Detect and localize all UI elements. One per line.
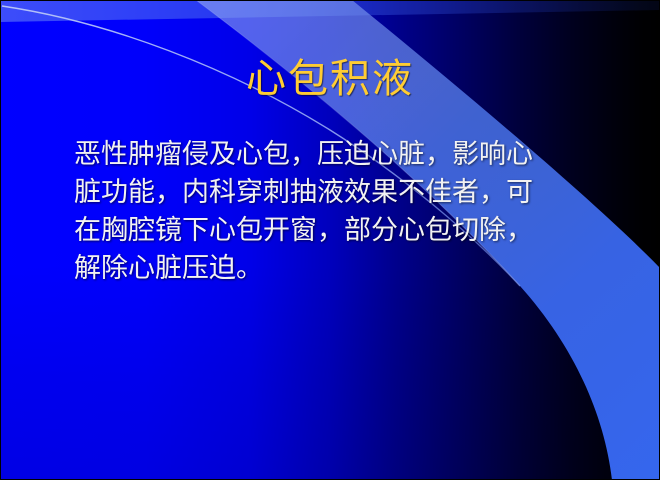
body-line-2: 脏功能，内科穿刺抽液效果不佳者，可 [74, 174, 594, 212]
body-line-4: 解除心脏压迫。 [74, 250, 594, 288]
body-line-1: 恶性肿瘤侵及心包，压迫心脏，影响心 [74, 136, 594, 174]
slide-canvas: 心包积液 恶性肿瘤侵及心包，压迫心脏，影响心 脏功能，内科穿刺抽液效果不佳者，可… [0, 0, 660, 480]
body-line-3: 在胸腔镜下心包开窗，部分心包切除， [74, 212, 594, 250]
slide-content: 心包积液 恶性肿瘤侵及心包，压迫心脏，影响心 脏功能，内科穿刺抽液效果不佳者，可… [0, 0, 660, 480]
slide-title: 心包积液 [0, 54, 660, 104]
slide-body: 恶性肿瘤侵及心包，压迫心脏，影响心 脏功能，内科穿刺抽液效果不佳者，可 在胸腔镜… [74, 136, 594, 288]
